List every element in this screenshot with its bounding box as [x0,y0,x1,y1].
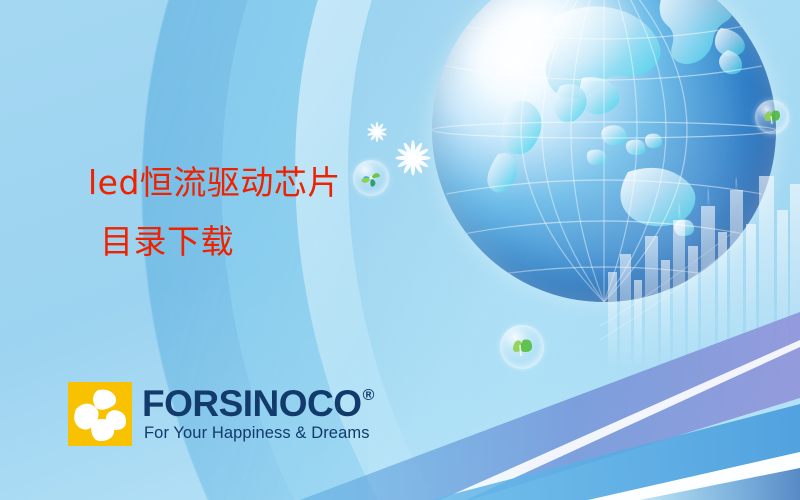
wordmark-text: FORSINOCO [142,385,362,423]
globe-sphere [432,0,776,302]
bubble-leaf-right [755,100,789,134]
headline-line-1: led恒流驱动芯片 [88,166,418,199]
globe-graphic [432,0,776,302]
headline-line-2: 目录下载 [100,225,418,258]
promo-banner: led恒流驱动芯片 目录下载 FORSINOCO ® For Your Happ… [0,0,800,500]
brand-text-block: FORSINOCO ® For Your Happiness & Dreams [142,385,374,443]
brand-tagline: For Your Happiness & Dreams [144,424,374,443]
leaf-icon-small [755,100,789,134]
brand-logo-lockup: FORSINOCO ® For Your Happiness & Dreams [68,382,374,446]
leaf-icon [500,325,544,369]
wordmark: FORSINOCO ® [142,385,374,423]
forsinoco-pinwheel-mark-icon [68,382,132,446]
registered-trademark-symbol: ® [363,388,374,404]
pinwheel-petals-icon [68,382,132,446]
headline: led恒流驱动芯片 目录下载 [88,166,418,258]
bubble-leaf-center [500,325,544,369]
